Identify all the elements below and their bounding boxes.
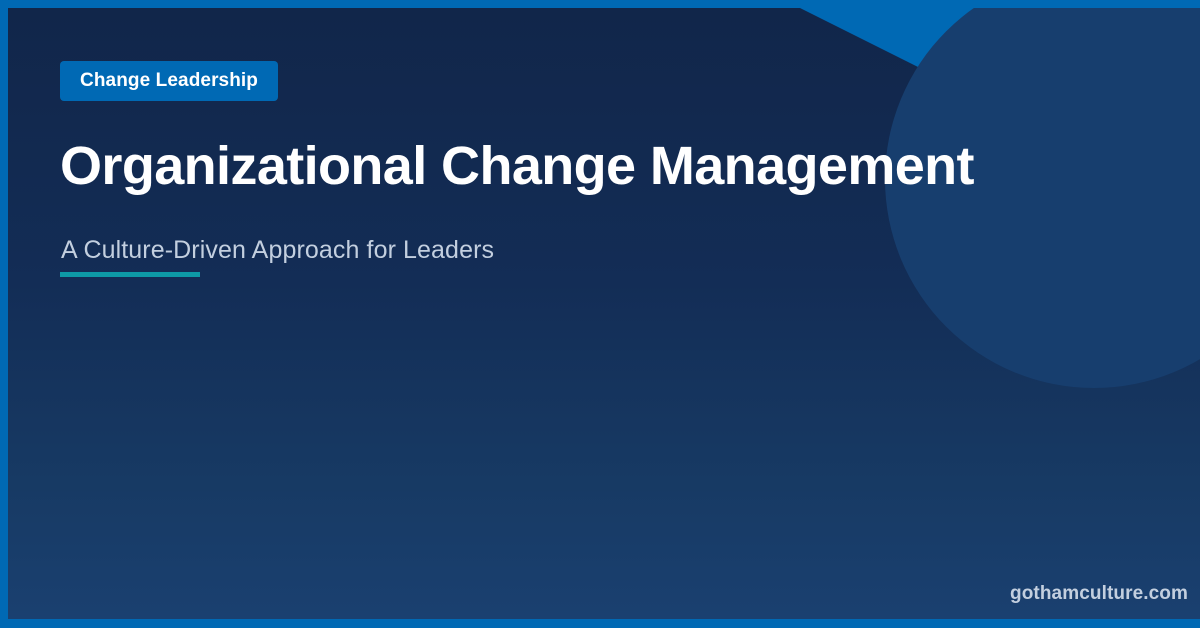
- promo-banner: Change Leadership Organizational Change …: [0, 0, 1200, 628]
- page-title: Organizational Change Management: [60, 137, 974, 195]
- banner-content: Change Leadership Organizational Change …: [60, 8, 1060, 619]
- teal-accent-bar: [60, 272, 200, 277]
- category-badge: Change Leadership: [60, 61, 278, 101]
- bottom-accent-bar: [0, 619, 1200, 628]
- site-domain-label: gothamculture.com: [1010, 584, 1188, 603]
- page-subtitle: A Culture-Driven Approach for Leaders: [61, 237, 494, 265]
- banner-canvas: Change Leadership Organizational Change …: [8, 8, 1200, 619]
